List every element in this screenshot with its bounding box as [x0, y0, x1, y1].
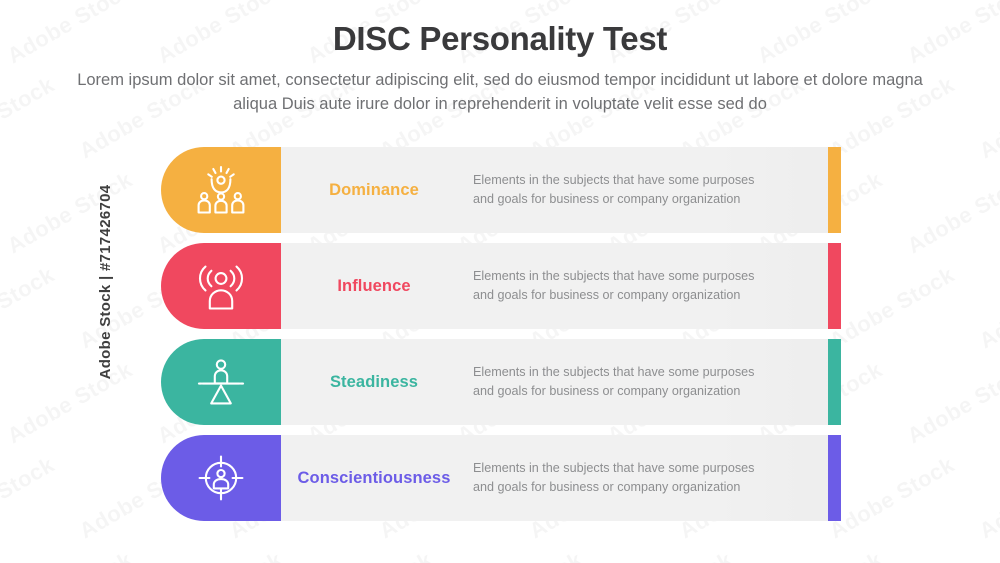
watermark-text: Adobe Stock: [825, 262, 959, 355]
watermark-text: Adobe Stock: [303, 547, 437, 563]
watermark-text: Adobe Stock: [975, 452, 1000, 545]
accent-bar-conscientiousness: [828, 435, 841, 521]
watermark-text: Adobe Stock: [825, 452, 959, 545]
watermark-text: Adobe Stock: [3, 547, 137, 563]
disc-row-conscientiousness[interactable]: ConscientiousnessElements in the subject…: [161, 435, 841, 521]
page-subtitle: Lorem ipsum dolor sit amet, consectetur …: [60, 69, 940, 117]
disc-row-dominance[interactable]: DominanceElements in the subjects that h…: [161, 147, 841, 233]
watermark-text: Adobe Stock: [0, 262, 59, 355]
person-balance-icon: [194, 357, 248, 407]
header: DISC Personality Test Lorem ipsum dolor …: [0, 0, 1000, 117]
row-label-steadiness: Steadiness: [281, 373, 467, 392]
row-label-conscientiousness: Conscientiousness: [281, 469, 467, 488]
watermark-text: Adobe Stock: [903, 357, 1000, 450]
target-person-icon: [194, 453, 248, 503]
content-panel-influence: InfluenceElements in the subjects that h…: [281, 243, 841, 329]
watermark-text: Adobe Stock: [153, 547, 287, 563]
icon-badge-conscientiousness: [161, 435, 281, 521]
leader-group-icon: [194, 165, 248, 215]
watermark-text: Adobe Stock: [453, 547, 587, 563]
watermark-text: Adobe Stock: [603, 547, 737, 563]
row-description-conscientiousness: Elements in the subjects that have some …: [467, 459, 841, 497]
content-panel-steadiness: SteadinessElements in the subjects that …: [281, 339, 841, 425]
row-label-dominance: Dominance: [281, 181, 467, 200]
person-broadcast-icon: [194, 261, 248, 311]
accent-bar-steadiness: [828, 339, 841, 425]
stock-credit-label: Adobe Stock | #717426704: [97, 184, 114, 379]
icon-badge-dominance: [161, 147, 281, 233]
watermark-text: Adobe Stock: [0, 452, 59, 545]
row-description-steadiness: Elements in the subjects that have some …: [467, 363, 841, 401]
accent-bar-dominance: [828, 147, 841, 233]
watermark-text: Adobe Stock: [903, 547, 1000, 563]
watermark-text: Adobe Stock: [903, 167, 1000, 260]
content-panel-conscientiousness: ConscientiousnessElements in the subject…: [281, 435, 841, 521]
content-panel-dominance: DominanceElements in the subjects that h…: [281, 147, 841, 233]
icon-badge-steadiness: [161, 339, 281, 425]
watermark-text: Adobe Stock: [753, 547, 887, 563]
disc-row-steadiness[interactable]: SteadinessElements in the subjects that …: [161, 339, 841, 425]
row-label-influence: Influence: [281, 277, 467, 296]
row-description-dominance: Elements in the subjects that have some …: [467, 171, 841, 209]
watermark-text: Adobe Stock: [975, 262, 1000, 355]
page-title: DISC Personality Test: [0, 20, 1000, 58]
accent-bar-influence: [828, 243, 841, 329]
disc-rows-list: DominanceElements in the subjects that h…: [161, 147, 841, 531]
row-description-influence: Elements in the subjects that have some …: [467, 267, 841, 305]
watermark-text: Adobe Stock: [3, 357, 137, 450]
disc-row-influence[interactable]: InfluenceElements in the subjects that h…: [161, 243, 841, 329]
icon-badge-influence: [161, 243, 281, 329]
watermark-text: Adobe Stock: [3, 167, 137, 260]
